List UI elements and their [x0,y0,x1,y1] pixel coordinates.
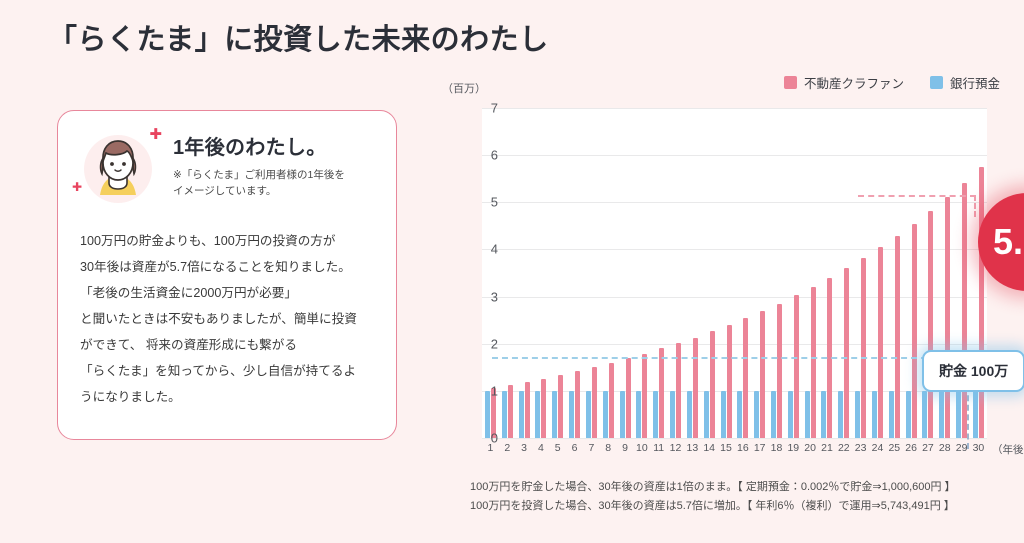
bar-savings [737,391,742,438]
chart-legend: 不動産クラファン 銀行預金 [784,73,1000,92]
card-body-line: と聞いたときは不安もありましたが、簡単に投資 [80,306,380,332]
story-card: ✚ ✚ 1年後のわたし。 ※「らくたま」ご利用者様の1年後を イメージしています… [57,110,397,440]
bar-investment [895,236,900,438]
bar-investment [508,385,513,438]
footnote-line: 100万円を投資した場合、30年後の資産は5.7倍に増加。【 年利6％（複利）で… [470,497,956,516]
x-axis-tick: 1 [482,442,499,454]
sparkle-plus-icon: ✚ [72,181,82,193]
savings-connector-line [492,357,937,359]
x-axis-tick: 21 [819,442,836,454]
bar-savings [855,391,860,438]
bar-savings [620,391,625,438]
x-axis-tick: 30 [970,442,987,454]
bar-investment [626,358,631,438]
card-body-line: 30年後は資産が5.7倍になることを知りました。 [80,254,380,280]
bar-investment [878,247,883,438]
bar-savings [670,391,675,438]
bar-investment [541,379,546,438]
card-body-line: 「らくたま」を知ってから、少し自信が持てるよ [80,358,380,384]
bar-group [650,108,667,438]
bar-savings [872,391,877,438]
bar-group [633,108,650,438]
bar-group [734,108,751,438]
invest-connector-drop [974,195,976,217]
x-axis-tick: 7 [583,442,600,454]
bar-group [532,108,549,438]
bar-investment [558,375,563,438]
footnote-line: 100万円を貯金した場合、30年後の資産は1倍のまま。【 定期預金：0.002％… [470,478,956,497]
legend-item-savings: 銀行預金 [930,73,1000,92]
bar-group [549,108,566,438]
bar-group [566,108,583,438]
bar-savings [502,391,507,438]
x-axis-tick: 14 [701,442,718,454]
bar-savings [569,391,574,438]
x-axis-tick: 10 [633,442,650,454]
bar-group [617,108,634,438]
bar-investment [945,197,950,438]
bar-group [768,108,785,438]
bar-savings [603,391,608,438]
bar-group [684,108,701,438]
bar-investment [525,382,530,438]
bar-investment [844,268,849,438]
x-axis-tick: 15 [718,442,735,454]
card-note: ※「らくたま」ご利用者様の1年後を イメージしています。 [173,167,388,200]
bar-savings [922,391,927,438]
y-axis-tick: 5 [491,195,498,210]
x-axis-tick: 16 [734,442,751,454]
card-header: ✚ ✚ 1年後のわたし。 ※「らくたま」ご利用者様の1年後を イメージしています… [78,129,378,215]
bar-savings [687,391,692,438]
x-axis-tick: 17 [751,442,768,454]
bar-savings [838,391,843,438]
callout-savings: 貯金 100万 [922,350,1024,392]
bar-savings [519,391,524,438]
multiple-number: 5.7 [993,224,1024,260]
legend-label: 銀行預金 [950,73,1000,92]
bar-investment [861,258,866,438]
page-root: 「らくたま」に投資した未来のわたし ✚ ✚ [0,0,1024,543]
x-axis-tick: 27 [920,442,937,454]
x-axis-tick: 3 [516,442,533,454]
bar-savings [721,391,726,438]
x-axis-tick: 25 [886,442,903,454]
y-axis-tick: 2 [491,336,498,351]
card-note-line: ※「らくたま」ご利用者様の1年後を [173,167,388,183]
bar-group [499,108,516,438]
x-axis-tick: 24 [869,442,886,454]
x-axis-tick: 11 [650,442,667,454]
bar-investment [710,331,715,438]
x-axis-tick: 9 [617,442,634,454]
bar-group [802,108,819,438]
bar-investment [727,325,732,438]
y-axis-unit: （百万） [442,80,486,96]
x-axis-tick: 13 [684,442,701,454]
bar-group [785,108,802,438]
x-axis-tick: 8 [600,442,617,454]
bar-group [667,108,684,438]
card-body: 100万円の貯金よりも、100万円の投資の方が 30年後は資産が5.7倍になるこ… [80,228,380,410]
bar-savings [939,391,944,438]
bar-group [835,108,852,438]
legend-swatch-icon [784,76,797,89]
x-axis-tick: 28 [936,442,953,454]
bar-group [701,108,718,438]
bar-group [819,108,836,438]
chart: （百万） 不動産クラファン 銀行預金 76543210 123456789101… [430,60,1010,530]
bar-investment [693,338,698,438]
card-body-line: ができて、 将来の資産形成にも繋がる [80,332,380,358]
bar-investment [928,211,933,438]
card-note-line: イメージしています。 [173,183,388,199]
chart-footnotes: 100万円を貯金した場合、30年後の資産は1倍のまま。【 定期預金：0.002％… [470,478,956,517]
bar-savings [889,391,894,438]
bar-group [751,108,768,438]
x-axis-tick: 4 [532,442,549,454]
bar-group [903,108,920,438]
bar-group [886,108,903,438]
x-axis-tick: 18 [768,442,785,454]
woman-illustration-icon [78,129,158,209]
legend-item-investment: 不動産クラファン [784,73,904,92]
x-axis-tick: 22 [835,442,852,454]
bar-series [482,108,987,438]
x-axis-tick: 19 [785,442,802,454]
bar-savings [653,391,658,438]
x-axis-tick: 20 [802,442,819,454]
bar-savings [821,391,826,438]
bar-investment [777,304,782,438]
bar-investment [609,363,614,438]
bar-savings [956,391,961,438]
bar-savings [704,391,709,438]
bar-group [718,108,735,438]
sparkle-plus-icon: ✚ [149,127,162,142]
x-axis-tick: 23 [852,442,869,454]
card-heading: 1年後のわたし。 [173,131,388,160]
bar-investment [592,367,597,438]
bar-investment [743,318,748,438]
bar-savings [636,391,641,438]
y-axis-tick: 7 [491,101,498,116]
y-axis-tick: 6 [491,148,498,163]
x-axis-tick: 26 [903,442,920,454]
bar-investment [912,224,917,439]
plot-area [482,108,987,438]
x-axis-tick: 6 [566,442,583,454]
bar-savings [788,391,793,438]
legend-label: 不動産クラファン [804,73,904,92]
bar-group [852,108,869,438]
invest-connector-line [858,195,976,197]
y-axis-tick: 4 [491,242,498,257]
bar-investment [979,167,984,438]
x-axis-tick: 2 [499,442,516,454]
bar-investment [642,354,647,438]
page-title: 「らくたま」に投資した未来のわたし [48,16,549,58]
bar-savings [586,391,591,438]
x-axis-label: （年後） [992,442,1024,457]
bar-group [516,108,533,438]
bar-savings [552,391,557,438]
bar-savings [973,391,978,438]
y-axis-tick: 1 [491,383,498,398]
bar-investment [659,348,664,438]
bar-savings [485,391,490,438]
gridline [482,438,987,439]
card-body-line: 100万円の貯金よりも、100万円の投資の方が [80,228,380,254]
bar-group [583,108,600,438]
bar-savings [754,391,759,438]
bar-savings [771,391,776,438]
x-axis-ticks: 1234567891011121314151617181920212223242… [482,442,987,454]
x-axis-tick: 12 [667,442,684,454]
card-body-line: 「老後の生活資金に2000万円が必要」 [80,280,380,306]
y-axis-tick: 3 [491,289,498,304]
bar-investment [760,311,765,438]
legend-swatch-icon [930,76,943,89]
x-axis-tick: 5 [549,442,566,454]
card-body-line: うになりました。 [80,384,380,410]
bar-investment [575,371,580,438]
bar-group [600,108,617,438]
bar-investment [794,295,799,438]
bar-savings [805,391,810,438]
bar-savings [906,391,911,438]
avatar: ✚ ✚ [78,129,158,209]
bar-group [869,108,886,438]
bar-savings [535,391,540,438]
bar-investment [811,287,816,438]
